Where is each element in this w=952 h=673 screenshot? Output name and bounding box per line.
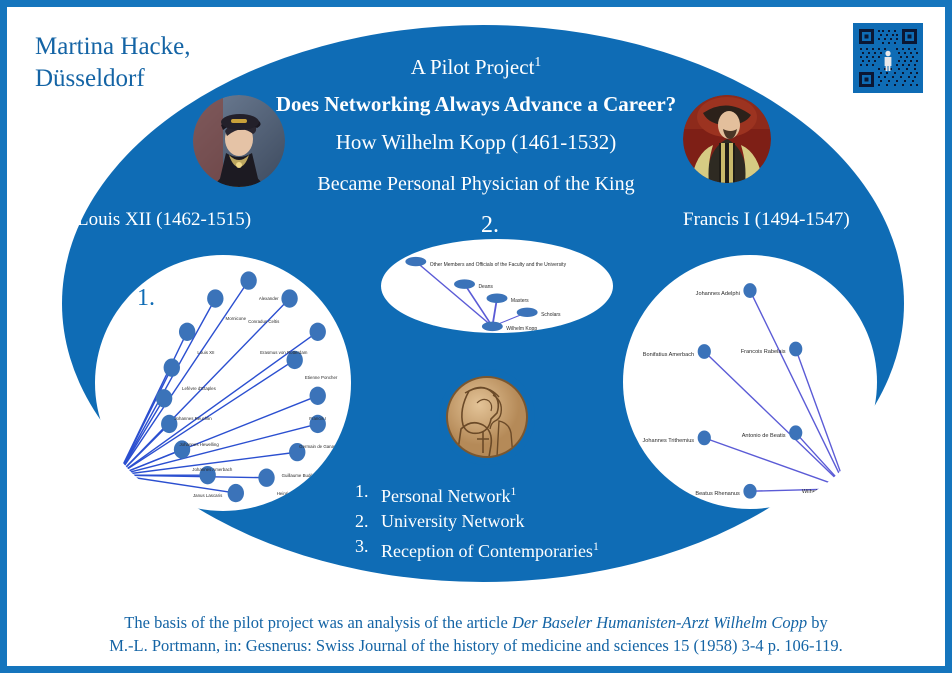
graph-node-label: Mornicone: [226, 316, 247, 321]
graph-node-label: Johannes Reuchlin: [174, 416, 211, 421]
graph-node-label: Alexander: [259, 296, 279, 301]
footer-line-1: The basis of the pilot project was an an…: [67, 611, 885, 634]
diagram-1-personal-network[interactable]: Wilhelm KoppAlexanderConradus CeltisMorn…: [95, 255, 351, 511]
graph-node-label: Beatus Rhenanus: [695, 491, 739, 497]
graph-node-label: Louis XII: [197, 350, 214, 355]
portrait-francis-i: [683, 95, 771, 183]
diagram-3-reception-network[interactable]: Johannes AdelphiBonifatius AmerbachFranc…: [623, 255, 877, 509]
graph-node-label: Bonifatius Amerbach: [643, 352, 694, 358]
poster-canvas: Martina Hacke, Düsseldorf: [0, 0, 952, 673]
legend-item-label: University Network: [381, 509, 524, 534]
graph-node-label: Johannes Adelphi: [696, 291, 740, 297]
graph-node[interactable]: [743, 484, 756, 499]
graph-node[interactable]: [240, 271, 256, 289]
graph-node[interactable]: [207, 289, 223, 307]
graph-node[interactable]: [840, 481, 853, 496]
footer-line-2: M.-L. Portmann, in: Gesnerus: Swiss Jour…: [67, 634, 885, 657]
graph-node[interactable]: [310, 387, 326, 405]
graph-node-label: Francois Rabelais: [741, 349, 786, 355]
graph-node-label: Janus Lascaris: [193, 493, 222, 498]
graph-node[interactable]: [517, 308, 538, 317]
footer-article-title: Der Baseler Humanisten-Arzt Wilhelm Copp: [512, 613, 807, 632]
poster-title: Does Networking Always Advance a Career?: [7, 92, 945, 117]
graph-node-label: Johannes Hewelling: [179, 442, 218, 447]
portrait-louis-xii: [193, 95, 285, 187]
footer-citation: The basis of the pilot project was an an…: [67, 611, 885, 657]
graph-node[interactable]: [698, 430, 711, 445]
legend-item-label: Personal Network1: [381, 479, 516, 509]
diagram-3-graph: [623, 255, 877, 509]
graph-node[interactable]: [405, 257, 426, 266]
graph-node-label: Other Members and Officials of the Facul…: [430, 262, 566, 268]
graph-node-label: Johannes Trithemius: [642, 438, 694, 444]
graph-node[interactable]: [482, 322, 503, 331]
graph-node[interactable]: [310, 323, 326, 341]
graph-edge: [118, 475, 236, 493]
graph-node[interactable]: [454, 279, 475, 288]
diagram-2-graph: [381, 239, 613, 333]
legend-item-number: 1.: [355, 479, 381, 509]
label-francis-i: Francis I (1494-1547): [683, 209, 850, 231]
graph-edge: [796, 349, 847, 489]
legend-item-number: 3.: [355, 534, 381, 564]
graph-node[interactable]: [179, 323, 195, 341]
graph-node-label: Germain de Ganay: [299, 444, 336, 449]
graph-node-label: Conradus Celtis: [248, 319, 279, 324]
footnote-marker: 1: [510, 485, 516, 498]
graph-node-label: Deans: [478, 284, 492, 290]
graph-node-label: Scholars: [541, 312, 560, 318]
diagram-2-number: 2.: [481, 212, 499, 239]
graph-node-label: Francis I: [309, 416, 326, 421]
graph-node[interactable]: [258, 469, 274, 487]
legend-item-1: 1.Personal Network1: [355, 479, 599, 509]
graph-node-label: Erasmus von Rotterdam: [260, 350, 307, 355]
graph-node[interactable]: [228, 484, 244, 502]
graph-edge: [416, 262, 493, 327]
subtitle-pilot-text: A Pilot Project: [411, 55, 535, 79]
footnote-marker: 1: [534, 54, 541, 69]
footnote-marker: 1: [593, 540, 599, 553]
graph-node-label: Johannes Amerbach: [192, 467, 232, 472]
graph-node-label: Guillaume Budé: [282, 473, 313, 478]
diagram-2-university-network[interactable]: Other Members and Officials of the Facul…: [381, 239, 613, 333]
graph-node[interactable]: [156, 389, 172, 407]
graph-node-label: Lefèvre d'Etaples: [182, 386, 216, 391]
graph-node-label: Wilhelm Kopp: [802, 489, 837, 495]
graph-edge: [704, 352, 846, 489]
subtitle-pilot-project: A Pilot Project1: [7, 54, 945, 80]
graph-node[interactable]: [743, 283, 756, 298]
diagram-3-number: 3.: [801, 275, 819, 302]
graph-node-label: Etienne Poncher: [305, 375, 337, 380]
label-louis-xii: Louis XII (1462-1515): [77, 209, 251, 231]
graph-node[interactable]: [698, 344, 711, 359]
legend-item-label: Reception of Contemporaries1: [381, 534, 599, 564]
subtitle-became: Became Personal Physician of the King: [7, 173, 945, 196]
graph-edge: [465, 284, 493, 326]
legend-item-3: 3.Reception of Contemporaries1: [355, 534, 599, 564]
graph-node[interactable]: [789, 425, 802, 440]
footer-text-b: by: [807, 613, 828, 632]
graph-node-label: Wilhelm Kopp: [506, 326, 537, 332]
graph-node-label: Heinrich Pantaleon: [277, 491, 314, 496]
graph-node[interactable]: [281, 289, 297, 307]
graph-node[interactable]: [487, 293, 508, 302]
diagram-1-number: 1.: [137, 285, 155, 312]
legend-list: 1.Personal Network12.University Network3…: [355, 479, 599, 564]
graph-node[interactable]: [164, 358, 180, 376]
graph-node-label: Wilhelm Kopp: [104, 496, 131, 501]
legend-item-2: 2.University Network: [355, 509, 599, 534]
graph-node[interactable]: [110, 466, 126, 484]
footer-text-a: The basis of the pilot project was an an…: [124, 613, 512, 632]
graph-node-label: Masters: [511, 298, 529, 304]
subtitle-how: How Wilhelm Kopp (1461-1532): [7, 130, 945, 155]
graph-node-label: Antonio de Beatis: [742, 433, 786, 439]
graph-node[interactable]: [789, 342, 802, 357]
legend-item-number: 2.: [355, 509, 381, 534]
medallion-wilhelm-kopp: [439, 369, 535, 465]
